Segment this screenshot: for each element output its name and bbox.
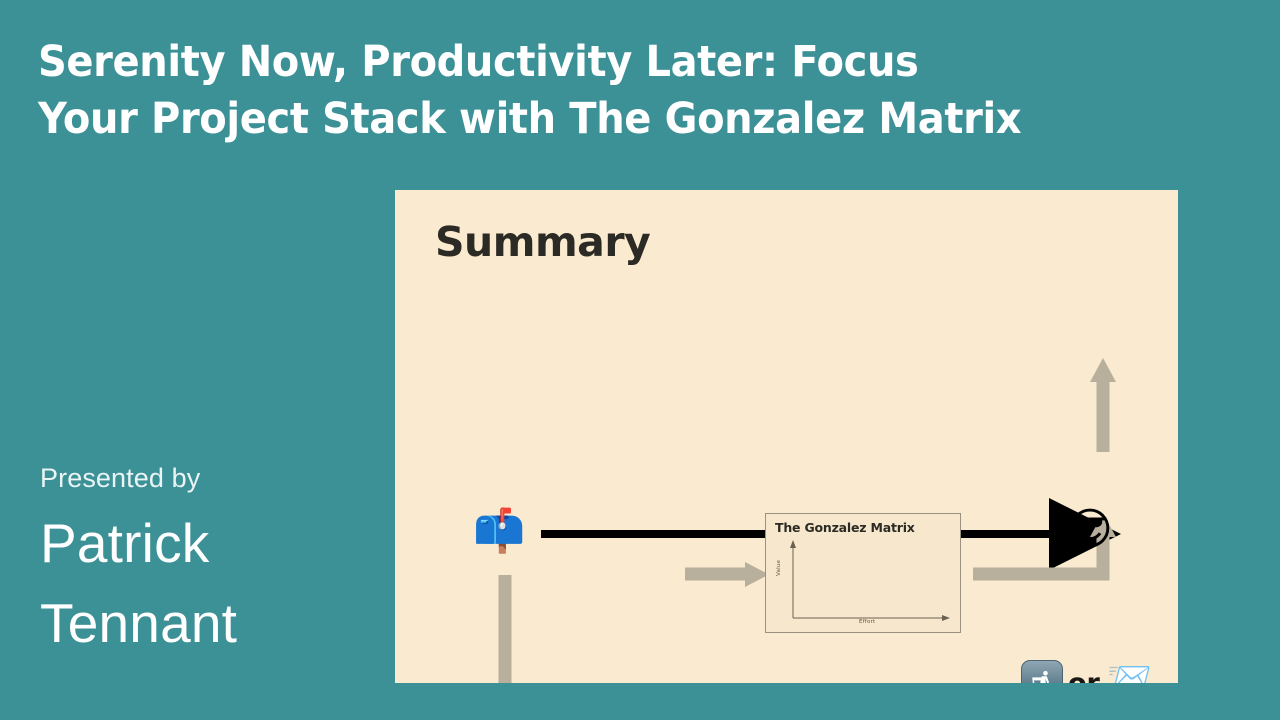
- mailbox-icon: 📫: [473, 510, 525, 552]
- matrix-axes: [766, 514, 962, 634]
- open-envelope-icon: 📨: [1107, 660, 1152, 683]
- slide-heading: Summary: [435, 218, 650, 266]
- title-panel: Serenity Now, Productivity Later: Focus …: [0, 0, 395, 720]
- or-label: or: [1068, 668, 1100, 683]
- litter-bin-icon: [1021, 660, 1063, 683]
- slide-thumbnail[interactable]: Summary 📫 😎 or 📨: [395, 190, 1178, 683]
- mailbox-to-fomo-arrow: [505, 575, 533, 683]
- matrix-x-axis-label: Effort: [859, 619, 875, 625]
- page-title: Serenity Now, Productivity Later: Focus …: [38, 34, 1154, 148]
- matrix-y-axis-label: Value: [776, 560, 782, 576]
- gonzalez-matrix-chart: The Gonzalez Matrix Value Effort: [765, 513, 961, 633]
- presenter-name: Patrick Tennant: [40, 504, 370, 664]
- presented-by-label: Presented by: [40, 462, 370, 494]
- smiling-face-with-sunglasses-icon: 😎: [1067, 508, 1113, 552]
- decision-to-outcome-arrowhead: [1090, 358, 1116, 382]
- presenter-block: Presented by Patrick Tennant: [40, 462, 370, 664]
